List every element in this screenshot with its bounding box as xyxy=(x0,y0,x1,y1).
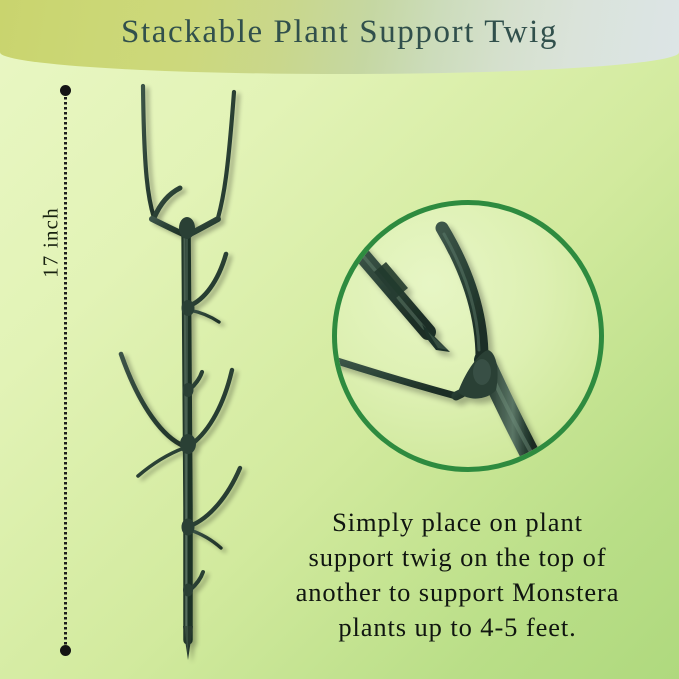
header-band: Stackable Plant Support Twig xyxy=(0,0,679,74)
caption-line-4: plants up to 4-5 feet. xyxy=(236,610,679,645)
measurement-rule xyxy=(58,84,74,658)
caption-line-3: another to support Monstera xyxy=(236,575,679,610)
measurement-dotted-line xyxy=(64,92,67,650)
measurement-endpoint-bottom-icon xyxy=(60,645,71,656)
caption-text: Simply place on plant support twig on th… xyxy=(236,505,679,645)
detail-inset-circle xyxy=(332,200,604,472)
product-image-canvas: Stackable Plant Support Twig 17 inch xyxy=(0,0,679,679)
measurement-endpoint-top-icon xyxy=(60,85,71,96)
caption-line-2: support twig on the top of xyxy=(236,540,679,575)
page-title: Stackable Plant Support Twig xyxy=(0,0,679,64)
caption-line-1: Simply place on plant xyxy=(236,505,679,540)
measurement-label: 17 inch xyxy=(39,178,64,308)
detail-inset-image xyxy=(332,200,604,472)
